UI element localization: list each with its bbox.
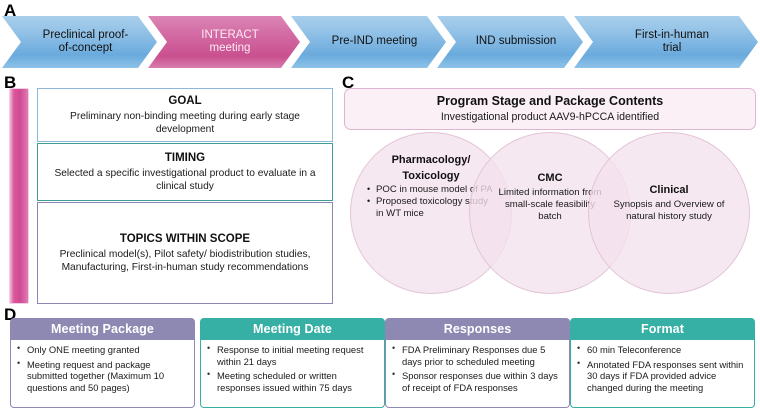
venn-circle-text: Synopsis and Overview of natural history… [609, 199, 729, 223]
figure-root: A Preclinical proof- of-concept INTERACT… [0, 0, 760, 411]
info-box-timing: TIMING Selected a specific investigation… [37, 143, 333, 201]
logistics-column-meeting-date: Meeting Date Response to initial meeting… [200, 318, 385, 408]
program-stage-subtitle: Investigational product AAV9-hPCCA ident… [441, 110, 659, 125]
flow-step-label-line1: IND submission [476, 35, 557, 49]
info-box-topics-within-scope: TOPICS WITHIN SCOPE Preclinical model(s)… [37, 202, 333, 304]
panel-c-program-stage: Program Stage and Package Contents Inves… [340, 86, 760, 308]
logistics-bullet: 60 min Teleconference [576, 344, 749, 356]
logistics-bullet: Only ONE meeting granted [16, 344, 189, 356]
logistics-column-format: Format 60 min Teleconference Annotated F… [570, 318, 755, 408]
flow-step-label-line2: of-concept [43, 42, 129, 56]
flow-step-pre-ind-meeting: Pre-IND meeting [291, 16, 446, 68]
info-box-body: Preclinical model(s), Pilot safety/ biod… [45, 249, 325, 274]
logistics-column-body: FDA Preliminary Responses due 5 days pri… [385, 340, 570, 408]
flow-step-label-line1: Preclinical proof- [43, 29, 129, 43]
venn-diagram: Pharmacology/ Toxicology POC in mouse mo… [340, 132, 760, 304]
info-box-body: Preliminary non-binding meeting during e… [45, 111, 325, 136]
info-box-title: GOAL [168, 93, 201, 109]
logistics-column-meeting-package: Meeting Package Only ONE meeting granted… [10, 318, 195, 408]
info-box-title: TOPICS WITHIN SCOPE [120, 231, 250, 247]
venn-circle-title-line1: Pharmacology/ [367, 153, 495, 169]
venn-circle-title-line1: Clinical [609, 183, 729, 199]
flow-step-preclinical: Preclinical proof- of-concept [2, 16, 157, 68]
logistics-bullet: Sponsor responses due within 3 days of r… [391, 370, 564, 393]
logistics-bullet: Meeting request and package submitted to… [16, 359, 189, 394]
flow-step-interact-meeting: INTERACT meeting [148, 16, 300, 68]
panel-a-timeline: Preclinical proof- of-concept INTERACT m… [0, 16, 760, 68]
flow-step-label-line1: Pre-IND meeting [332, 35, 418, 49]
logistics-column-header: Meeting Package [10, 318, 195, 340]
logistics-column-body: Response to initial meeting request with… [200, 340, 385, 408]
logistics-column-body: Only ONE meeting granted Meeting request… [10, 340, 195, 408]
venn-circle-title-line1: CMC [495, 171, 605, 187]
info-box-title: TIMING [165, 150, 205, 166]
flow-step-ind-submission: IND submission [437, 16, 583, 68]
logistics-column-header: Format [570, 318, 755, 340]
venn-circle-clinical: Clinical Synopsis and Overview of natura… [588, 132, 750, 294]
logistics-bullet: Response to initial meeting request with… [206, 344, 379, 367]
logistics-column-responses: Responses FDA Preliminary Responses due … [385, 318, 570, 408]
flow-step-label-line1: First-in-human [635, 29, 709, 43]
program-stage-title: Program Stage and Package Contents [437, 93, 663, 110]
panel-d-logistics: Meeting Package Only ONE meeting granted… [0, 318, 760, 410]
flow-step-label-line1: INTERACT [201, 29, 259, 43]
logistics-column-header: Responses [385, 318, 570, 340]
logistics-bullet: FDA Preliminary Responses due 5 days pri… [391, 344, 564, 367]
panel-b-accent-bar [9, 88, 29, 304]
logistics-bullet: Meeting scheduled or written responses i… [206, 370, 379, 393]
flow-step-label-line2: trial [635, 42, 709, 56]
info-box-body: Selected a specific investigational prod… [45, 168, 325, 193]
flow-step-first-in-human-trial: First-in-human trial [574, 16, 758, 68]
flow-step-label-line2: meeting [201, 42, 259, 56]
logistics-bullet: Annotated FDA responses sent within 30 d… [576, 359, 749, 394]
info-box-goal: GOAL Preliminary non-binding meeting dur… [37, 88, 333, 142]
program-stage-header: Program Stage and Package Contents Inves… [344, 88, 756, 130]
logistics-column-header: Meeting Date [200, 318, 385, 340]
panel-b-meeting-info: GOAL Preliminary non-binding meeting dur… [0, 86, 340, 308]
logistics-column-body: 60 min Teleconference Annotated FDA resp… [570, 340, 755, 408]
